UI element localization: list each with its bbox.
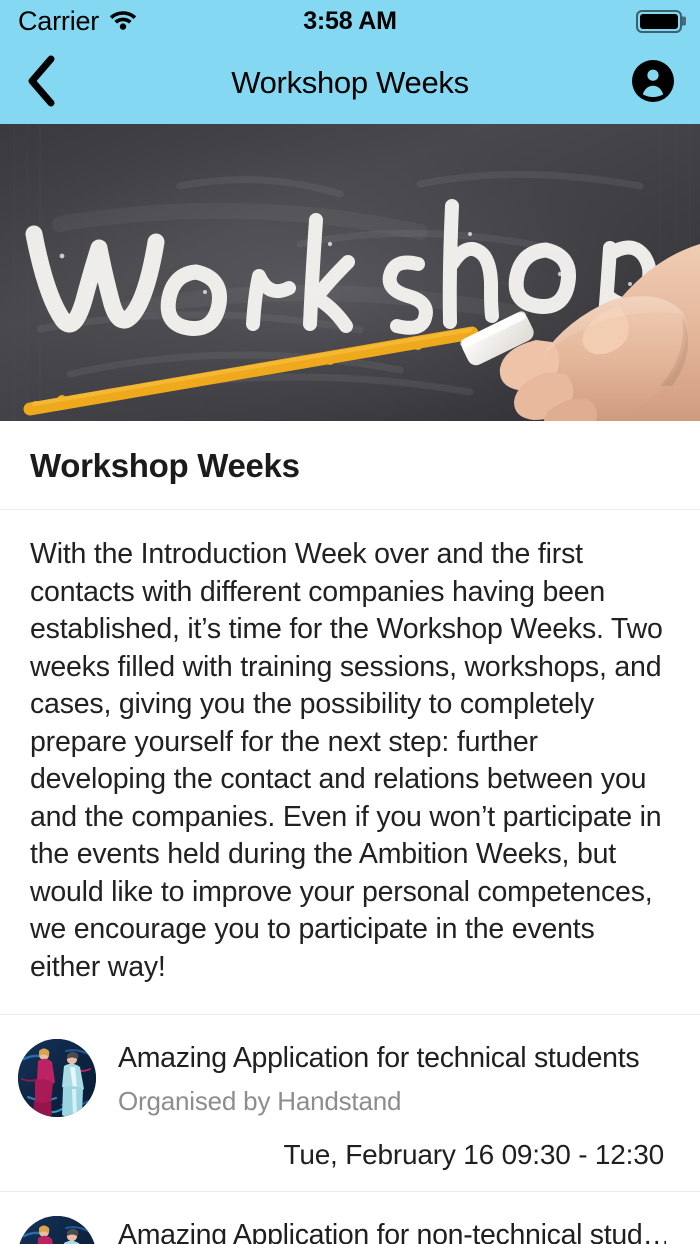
event-datetime: Tue, February 16 09:30 - 12:30 [18, 1139, 666, 1171]
event-text-block: Amazing Application for non-technical st… [118, 1216, 666, 1244]
page-title: Workshop Weeks [0, 65, 700, 101]
avatar-illustration [18, 1039, 96, 1117]
article-body: With the Introduction Week over and the … [0, 510, 700, 1014]
profile-button[interactable] [630, 60, 676, 106]
battery-full-icon [636, 10, 682, 33]
battery-nub [682, 17, 686, 26]
app-screen: Carrier 3:58 AM W [0, 0, 700, 1244]
list-item[interactable]: Amazing Application for technical studen… [0, 1015, 700, 1191]
hero-image [0, 124, 700, 421]
chevron-left-icon [24, 55, 58, 112]
event-thumbnail [18, 1216, 96, 1244]
avatar-illustration [18, 1216, 96, 1244]
article-title: Workshop Weeks [0, 421, 700, 509]
event-text-block: Amazing Application for technical studen… [118, 1039, 666, 1117]
event-name: Amazing Application for technical studen… [118, 1041, 666, 1075]
event-thumbnail [18, 1039, 96, 1117]
status-bar-clock: 3:58 AM [0, 9, 700, 34]
event-name: Amazing Application for non-technical st… [118, 1218, 666, 1244]
battery-fill [640, 14, 678, 29]
status-bar: Carrier 3:58 AM [0, 0, 700, 42]
event-header: Amazing Application for technical studen… [18, 1039, 666, 1117]
account-circle-icon [631, 59, 675, 108]
event-organiser: Organised by Handstand [118, 1085, 666, 1117]
list-item[interactable]: Amazing Application for non-technical st… [0, 1192, 700, 1244]
navigation-bar: Workshop Weeks [0, 42, 700, 124]
status-bar-right [636, 10, 682, 33]
chalkboard-illustration [0, 124, 700, 421]
event-header: Amazing Application for non-technical st… [18, 1216, 666, 1244]
back-button[interactable] [24, 57, 70, 109]
